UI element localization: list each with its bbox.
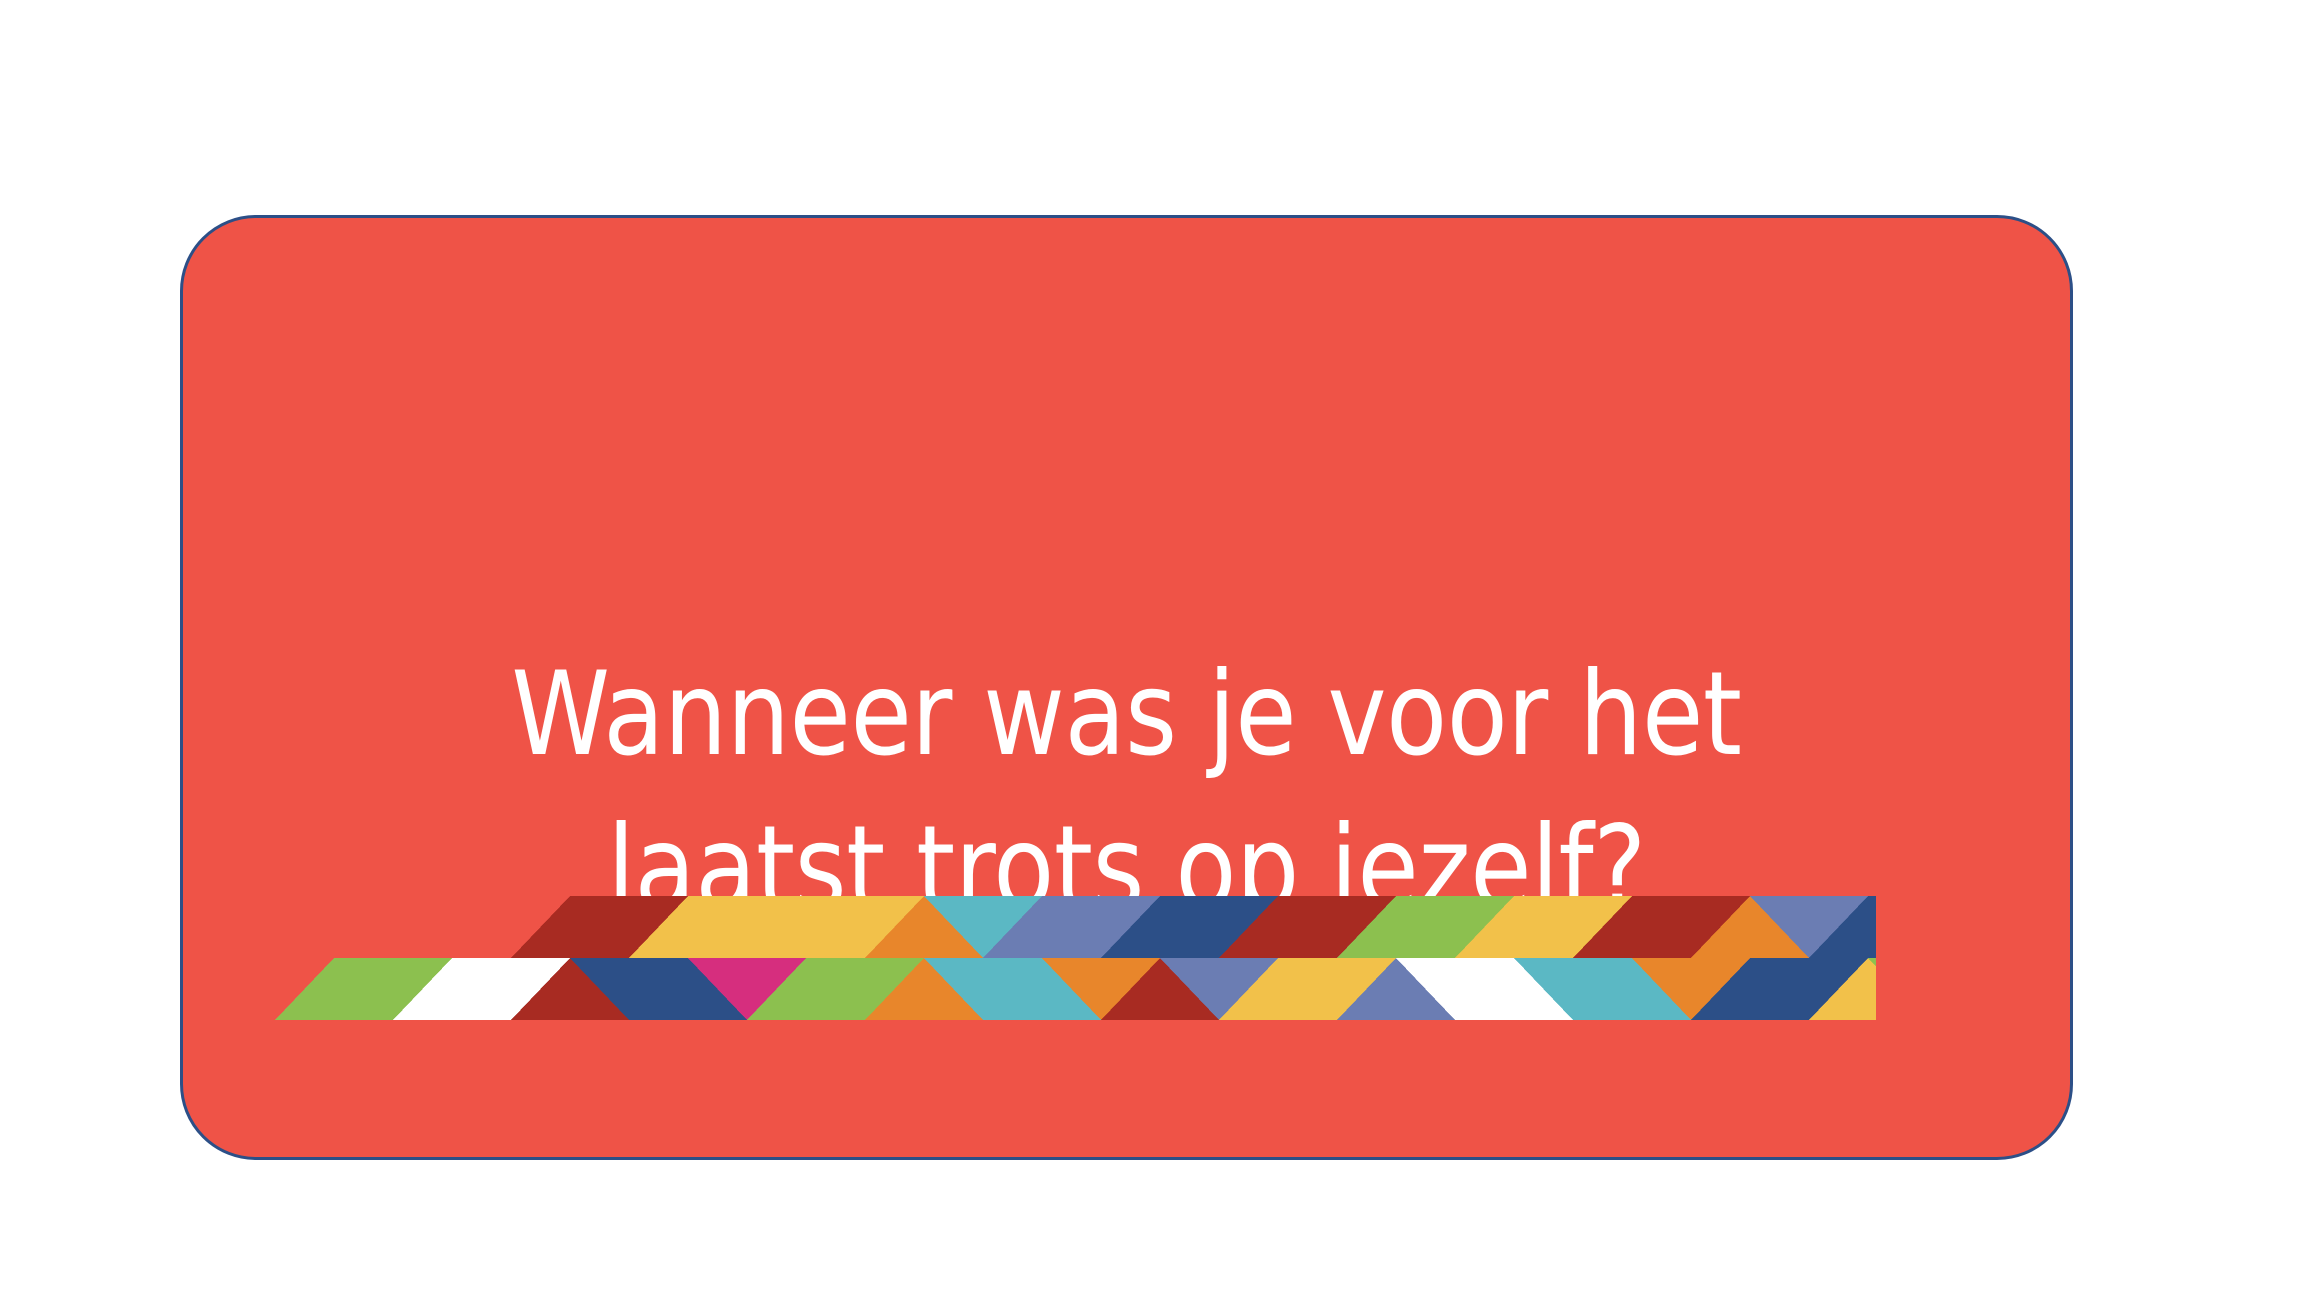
triangle-mosaic-band [275,896,1876,1021]
mosaic-triangles [275,896,1876,1020]
content-card: Wanneer was je voor het laatst trots op … [180,215,2073,1160]
triangle-mosaic-svg [275,896,1876,1021]
slide-canvas: Wanneer was je voor het laatst trots op … [0,0,2310,1298]
